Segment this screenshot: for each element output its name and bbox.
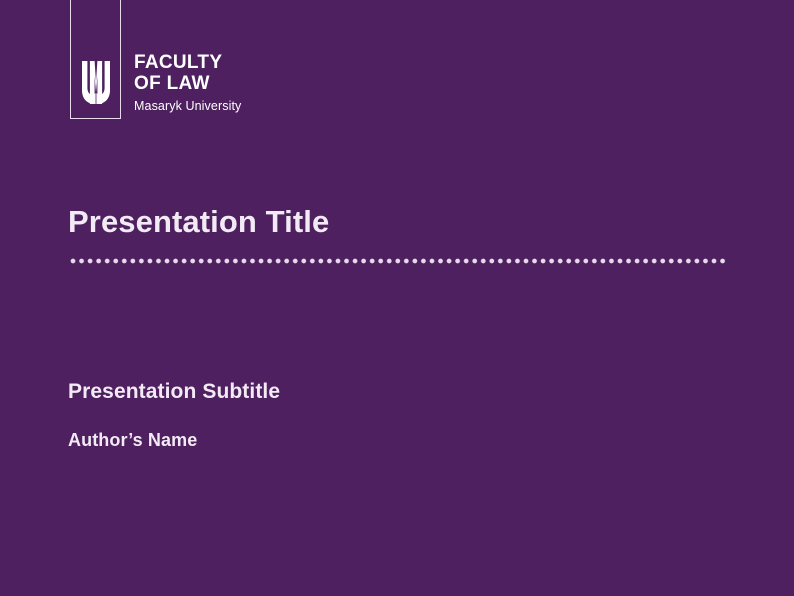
- logo-university-line: Masaryk University: [134, 99, 241, 113]
- faculty-logo-lockup: FACULTY OF LAW Masaryk University: [70, 0, 241, 119]
- presentation-title-slide: FACULTY OF LAW Masaryk University Presen…: [0, 0, 794, 596]
- presentation-title: Presentation Title: [68, 203, 329, 241]
- presentation-subtitle: Presentation Subtitle: [68, 378, 280, 406]
- logo-faculty-line: FACULTY: [134, 52, 241, 73]
- dotted-divider: [70, 258, 726, 264]
- logo-oflaw-line: OF LAW: [134, 73, 241, 94]
- logo-wordmark: FACULTY OF LAW Masaryk University: [134, 52, 241, 119]
- author-name: Author’s Name: [68, 427, 197, 453]
- logo-frame-border: [70, 0, 121, 119]
- masaryk-university-mu-monogram-icon: [81, 61, 111, 104]
